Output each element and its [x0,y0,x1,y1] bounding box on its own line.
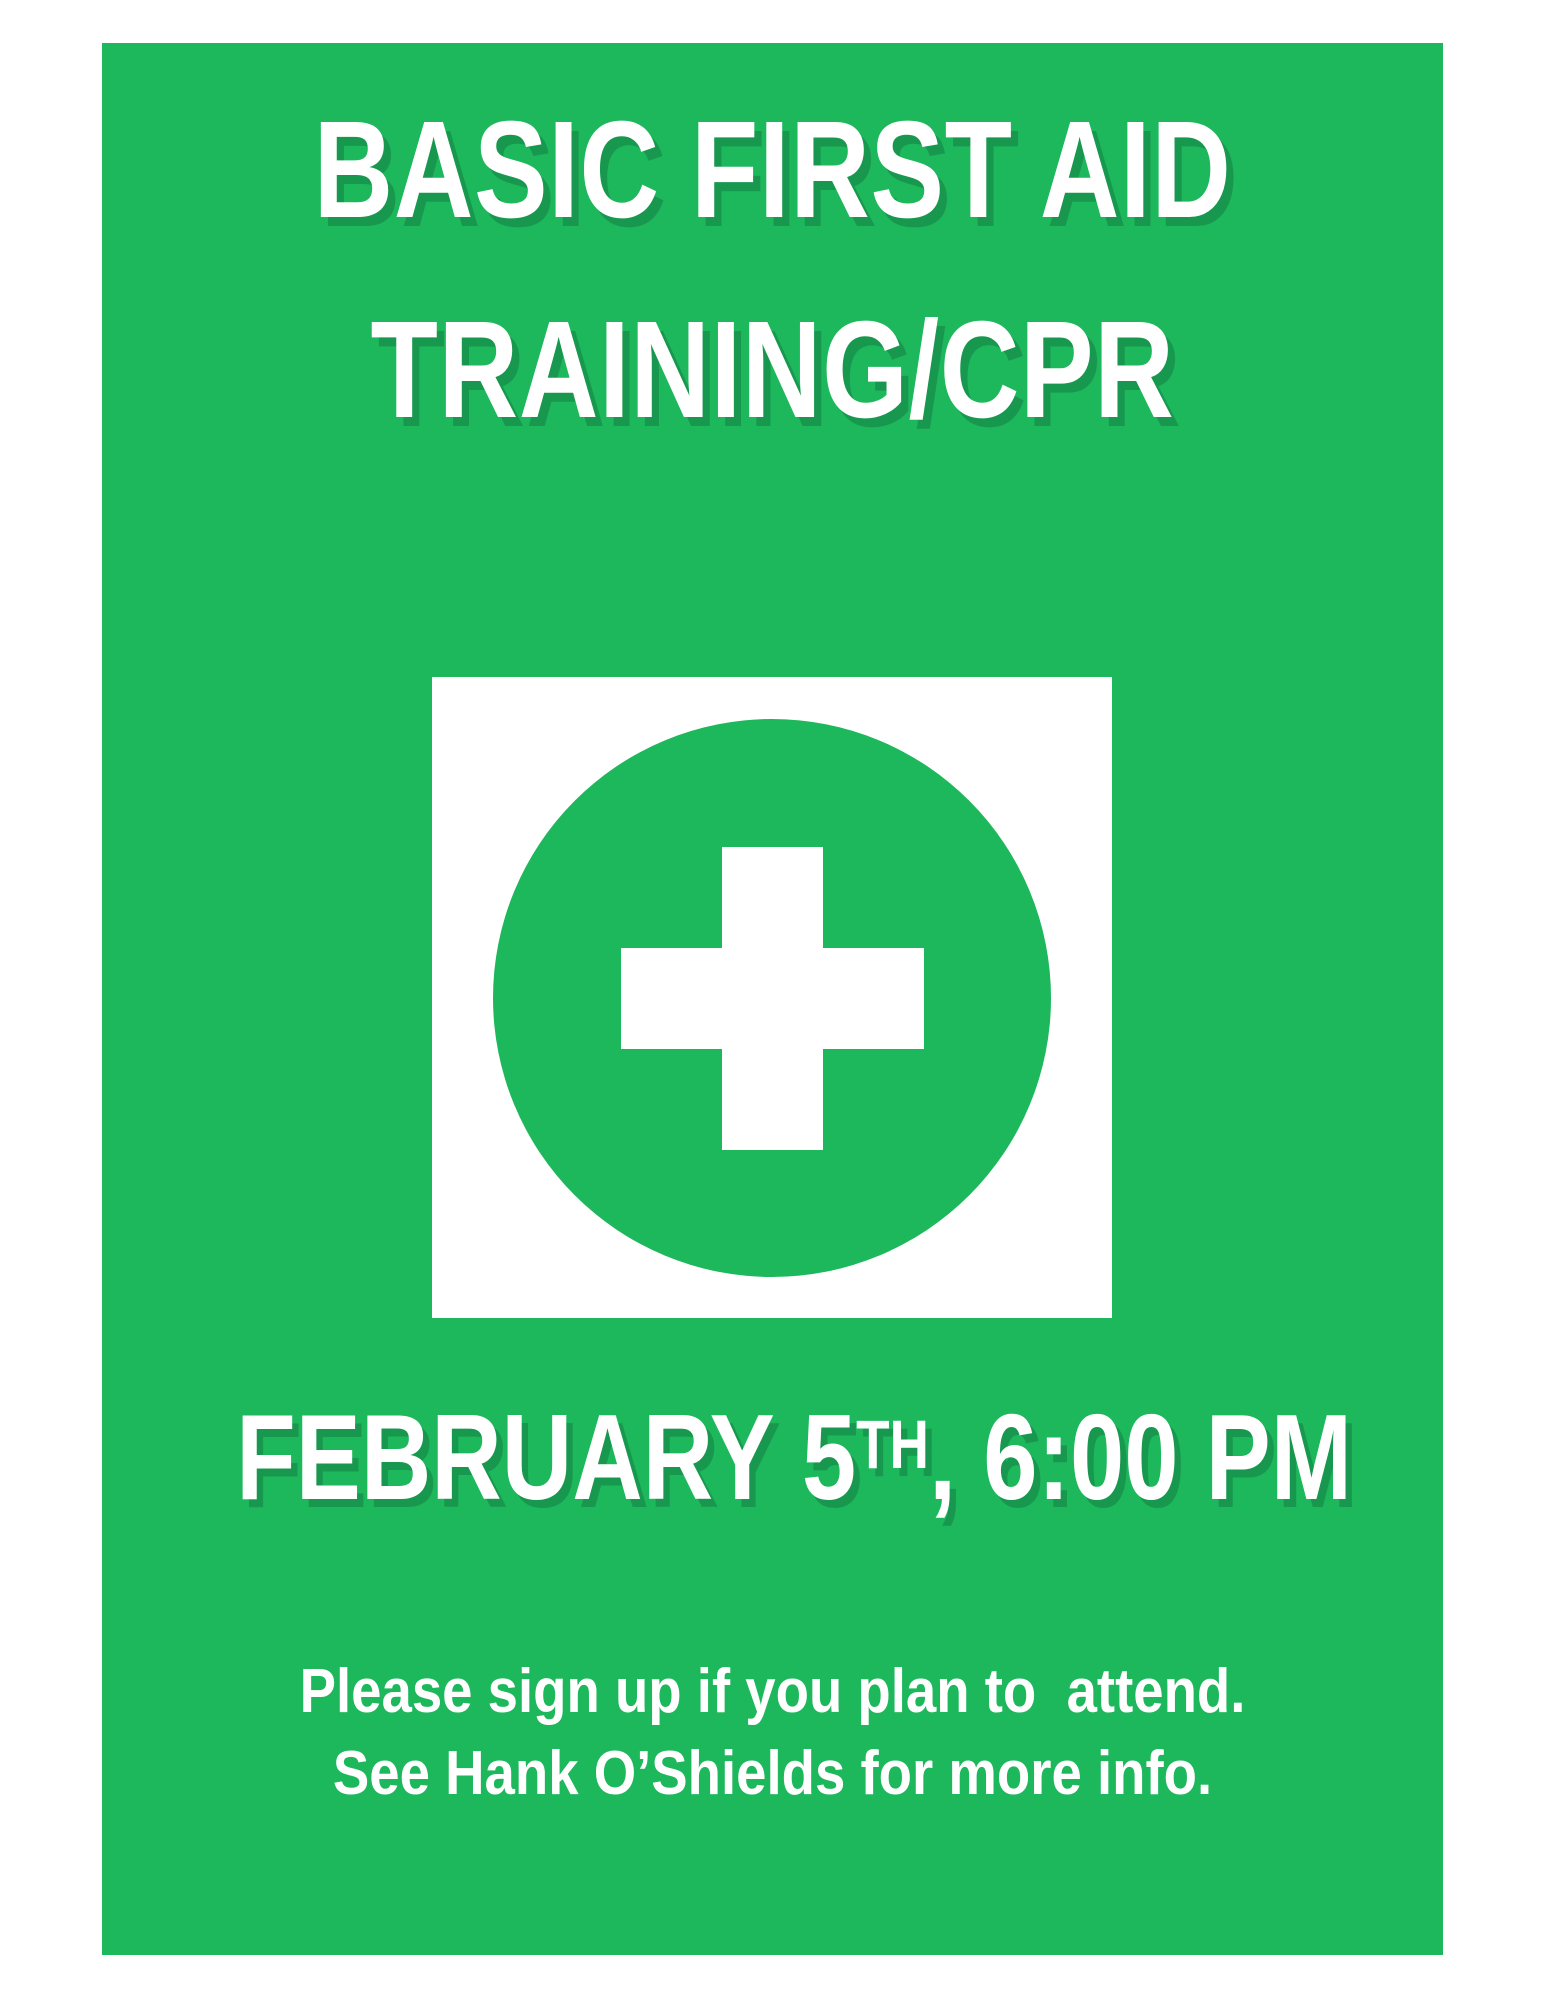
event-datetime: FEBRUARY 5TH, 6:00 PM [236,1396,1309,1518]
poster-panel: BASIC FIRST AID TRAINING/CPR FEBRUARY 5T… [102,43,1443,1955]
headline-line-2: TRAINING/CPR [236,301,1309,439]
event-month: FEBRUARY [236,1389,775,1525]
footer-note-line-2: See Hank O’Shields for more info. [182,1733,1362,1815]
event-day-ordinal-suffix: TH [856,1407,929,1483]
event-time: 6:00 PM [983,1389,1352,1525]
footer-note: Please sign up if you plan to attend. Se… [102,1651,1443,1815]
icon-cross-horizontal-bar [621,948,924,1049]
flyer-page: BASIC FIRST AID TRAINING/CPR FEBRUARY 5T… [0,0,1545,1999]
footer-note-line-1: Please sign up if you plan to attend. [182,1651,1362,1733]
headline-block: BASIC FIRST AID TRAINING/CPR [102,101,1443,439]
headline-line-1: BASIC FIRST AID [236,101,1309,239]
event-time-separator: , [929,1389,983,1525]
first-aid-cross-icon [432,677,1112,1318]
icon-circle-shape [493,719,1051,1277]
event-day-number: 5 [802,1389,856,1525]
